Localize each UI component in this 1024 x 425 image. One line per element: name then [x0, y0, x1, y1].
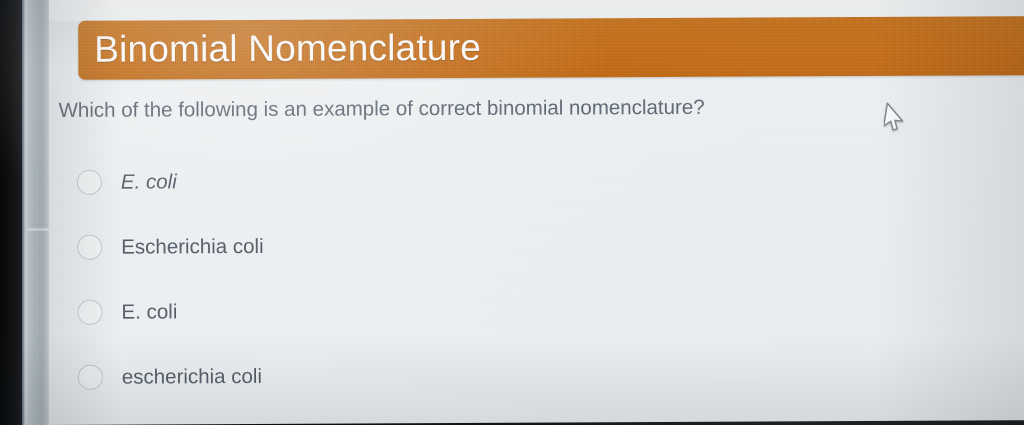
answer-option-2[interactable]: Escherichia coli	[59, 212, 759, 280]
answer-option-label-1[interactable]: E. coli	[121, 169, 177, 195]
answer-option-label-3[interactable]: E. coli	[121, 299, 177, 325]
photographed-screen: Binomial Nomenclature Which of the follo…	[0, 0, 1024, 425]
scroll-gutter[interactable]	[27, 0, 49, 425]
answer-options-list: E. coli Escherichia coli E. coli escheri…	[59, 147, 760, 410]
page-title: Binomial Nomenclature	[94, 26, 481, 72]
question-header-bar: Binomial Nomenclature	[78, 16, 1024, 80]
monitor-bezel-left	[0, 0, 24, 425]
answer-option-label-2[interactable]: Escherichia coli	[121, 233, 264, 260]
monitor-bezel-edge	[22, 0, 27, 425]
answer-option-label-4[interactable]: escherichia coli	[122, 363, 262, 390]
radio-button-icon-4[interactable]	[78, 365, 103, 390]
radio-button-icon-3[interactable]	[77, 300, 102, 325]
radio-button-icon-2[interactable]	[77, 235, 102, 260]
radio-button-icon-1[interactable]	[77, 170, 102, 195]
answer-option-3[interactable]: E. coli	[59, 277, 759, 345]
answer-option-1[interactable]: E. coli	[59, 147, 759, 215]
answer-option-4[interactable]: escherichia coli	[60, 342, 760, 410]
scroll-gutter-seam	[27, 228, 49, 231]
quiz-page: Binomial Nomenclature Which of the follo…	[46, 0, 1024, 425]
question-prompt: Which of the following is an example of …	[58, 95, 704, 124]
arrow-pointer-cursor	[884, 102, 908, 134]
